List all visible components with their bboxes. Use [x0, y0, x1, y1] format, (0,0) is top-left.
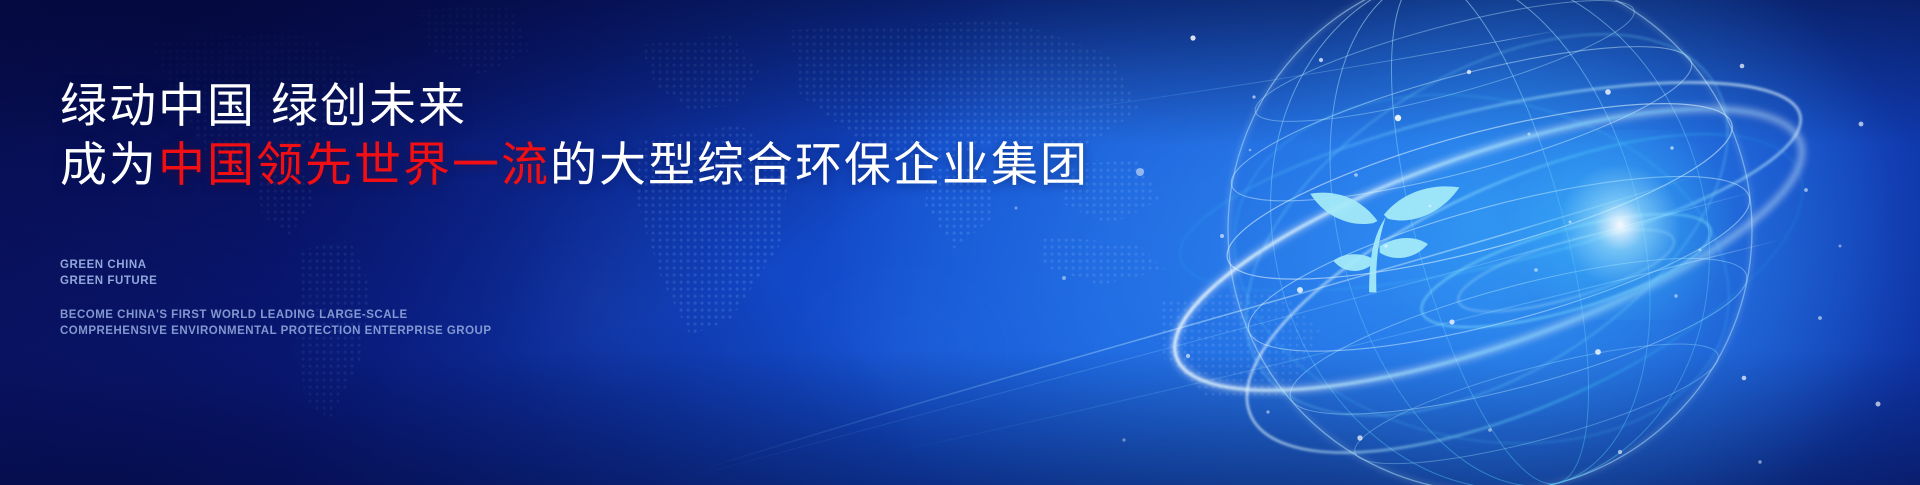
hero-banner: 绿动中国 绿创未来 成为中国领先世界一流的大型综合环保企业集团 GREEN CH…	[0, 0, 1920, 485]
copy-block: 绿动中国 绿创未来 成为中国领先世界一流的大型综合环保企业集团 GREEN CH…	[60, 0, 1060, 485]
headline-line-2-highlight: 中国领先世界一流	[158, 138, 550, 191]
slogan-english: GREEN CHINA GREEN FUTURE	[60, 258, 157, 289]
headline-line-2-prefix: 成为	[60, 138, 158, 191]
headline: 绿动中国 绿创未来 成为中国领先世界一流的大型综合环保企业集团	[60, 78, 1089, 193]
tagline-english-line-2: COMPREHENSIVE ENVIRONMENTAL PROTECTION E…	[60, 324, 492, 340]
headline-line-2-suffix: 的大型综合环保企业集团	[550, 138, 1089, 191]
headline-line-2: 成为中国领先世界一流的大型综合环保企业集团	[60, 137, 1089, 192]
slogan-english-line-1: GREEN CHINA	[60, 258, 157, 274]
tagline-english-line-1: BECOME CHINA'S FIRST WORLD LEADING LARGE…	[60, 308, 492, 324]
tagline-english: BECOME CHINA'S FIRST WORLD LEADING LARGE…	[60, 308, 492, 339]
slogan-english-line-2: GREEN FUTURE	[60, 274, 157, 290]
headline-line-1: 绿动中国 绿创未来	[60, 78, 1089, 133]
